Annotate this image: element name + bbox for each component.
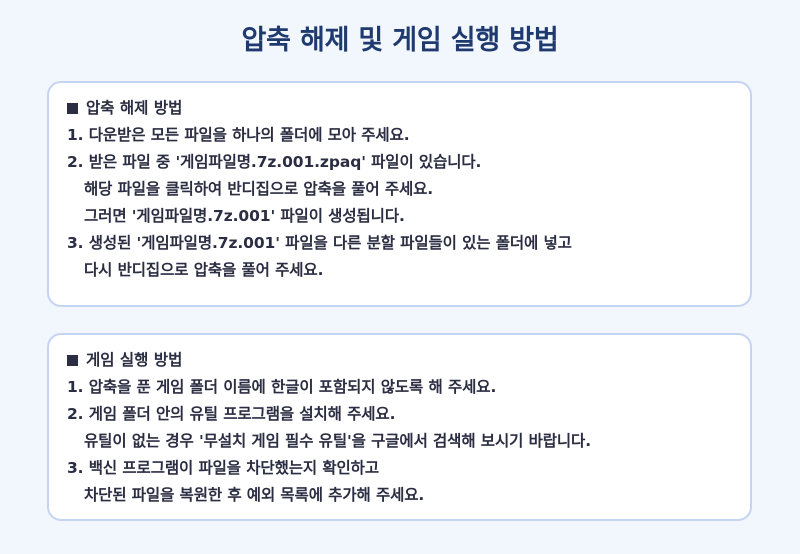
step-continuation: 해당 파일을 클릭하여 반디집으로 압축을 풀어 주세요. [67,176,732,203]
card-unzip-method: 압축 해제 방법 1. 다운받은 모든 파일을 하나의 폴더에 모아 주세요. … [47,81,752,307]
step-continuation: 유틸이 없는 경우 '무설치 게임 필수 유틸'을 구글에서 검색해 보시기 바… [67,428,732,455]
step-continuation: 그러면 '게임파일명.7z.001' 파일이 생성됩니다. [67,203,732,230]
page-title: 압축 해제 및 게임 실행 방법 [0,0,800,54]
step-item: 1. 다운받은 모든 파일을 하나의 폴더에 모아 주세요. [67,122,732,149]
step-item: 3. 백신 프로그램이 파일을 차단했는지 확인하고 [67,455,732,482]
section-heading-run: 게임 실행 방법 [67,347,732,374]
step-item: 2. 받은 파일 중 '게임파일명.7z.001.zpaq' 파일이 있습니다. [67,149,732,176]
step-item: 3. 생성된 '게임파일명.7z.001' 파일을 다른 분할 파일들이 있는 … [67,230,732,257]
card-run-game-method: 게임 실행 방법 1. 압축을 푼 게임 폴더 이름에 한글이 포함되지 않도록… [47,333,752,521]
filled-square-bullet-icon [67,355,78,366]
filled-square-bullet-icon [67,103,78,114]
step-item: 1. 압축을 푼 게임 폴더 이름에 한글이 포함되지 않도록 해 주세요. [67,374,732,401]
instructions-page: 압축 해제 및 게임 실행 방법 압축 해제 방법 1. 다운받은 모든 파일을… [0,0,800,554]
step-continuation: 다시 반디집으로 압축을 풀어 주세요. [67,257,732,284]
section-heading-unzip: 압축 해제 방법 [67,95,732,122]
step-item: 2. 게임 폴더 안의 유틸 프로그램을 설치해 주세요. [67,401,732,428]
section-heading-label: 압축 해제 방법 [86,95,182,122]
step-continuation: 차단된 파일을 복원한 후 예외 목록에 추가해 주세요. [67,482,732,509]
section-heading-label: 게임 실행 방법 [86,347,182,374]
